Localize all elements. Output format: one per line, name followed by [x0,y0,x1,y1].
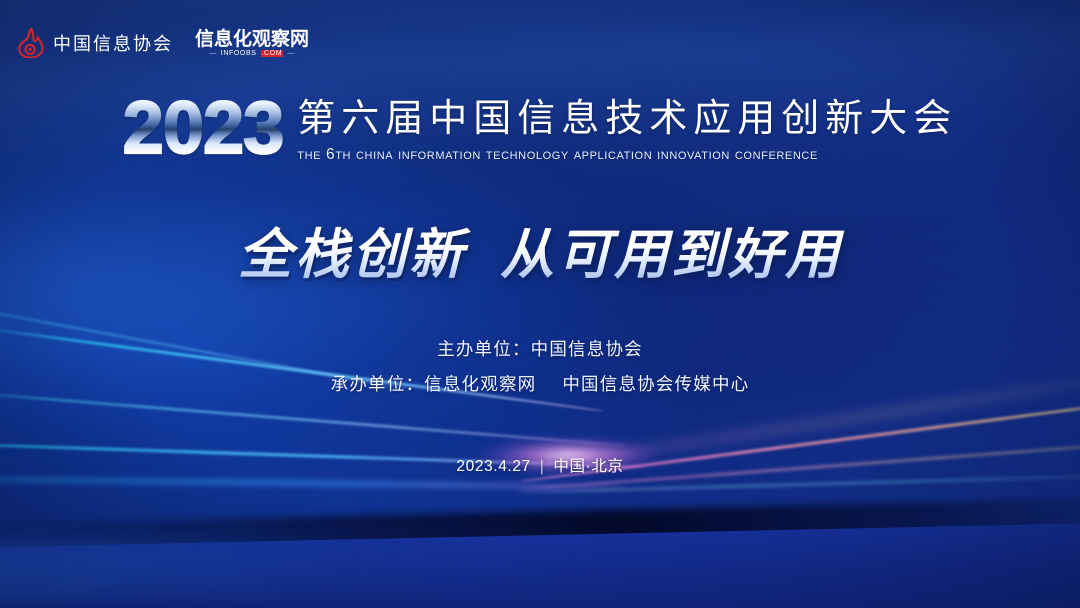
slogan-part-2: 从可用到好用 [500,225,842,285]
association-name-label: 中国信息协会 [53,30,173,56]
streak-warm-3 [518,475,1080,494]
host-organizer-text: 主办单位：中国信息协会 [437,339,643,359]
media-logo-en-red: .COM [261,50,284,57]
red-flame-logo-icon [18,28,44,58]
media-logo-en-white: INFOOBS [221,50,257,57]
organizer-block: 主办单位：中国信息协会 承办单位：信息化观察网中国信息协会传媒中心 [0,332,1080,402]
co-organizer-label: 承办单位： [331,374,425,394]
header-logos: 中国信息协会 信息化观察网 — INFOOBS .COM — [18,28,309,58]
event-date: 2023.4.27 [456,458,530,475]
event-location: 中国·北京 [553,458,623,475]
conference-poster: 中国信息协会 信息化观察网 — INFOOBS .COM — 2023 第六届中… [0,0,1080,608]
conference-year: 2023 [123,94,284,162]
title-texts: 第六届中国信息技术应用创新大会 The 6th China Informatio… [297,98,957,166]
media-logo-dash-right: — [287,50,295,57]
media-logo-dash-left: — [209,50,217,57]
background-bottom-band [0,522,1080,608]
media-partner-name-cn: 信息化观察网 [195,30,309,49]
co-organizer-1: 信息化观察网 [424,374,536,394]
page-title-english: The 6th China Information Technology App… [297,143,957,166]
footer-divider: | [540,458,545,476]
co-organizer-2: 中国信息协会传媒中心 [562,374,749,394]
page-title: 第六届中国信息技术应用创新大会 [297,98,957,141]
conference-slogan: 全栈创新从可用到好用 [0,210,1080,289]
streak-cyan-4 [0,476,626,490]
host-organizer-line: 主办单位：中国信息协会 [0,332,1080,367]
media-partner-name-en: — INFOOBS .COM — [209,50,295,57]
title-block: 2023 第六届中国信息技术应用创新大会 The 6th China Infor… [0,98,1080,166]
slogan-part-1: 全栈创新 [238,225,466,285]
background-dark-band [0,496,1080,567]
background-bottom-glow [0,531,595,605]
association-logo: 中国信息协会 [18,28,173,58]
media-partner-logo: 信息化观察网 — INFOOBS .COM — [195,30,309,57]
event-datetime-location: 2023.4.27|中国·北京 [0,454,1080,476]
co-organizer-line: 承办单位：信息化观察网中国信息协会传媒中心 [0,367,1080,402]
